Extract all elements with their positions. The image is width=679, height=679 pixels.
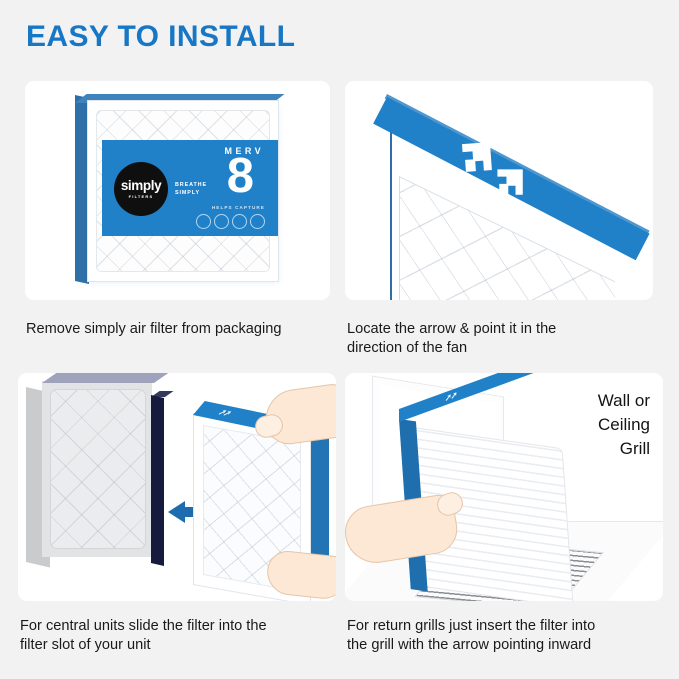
direction-arrow-badge-icon: ➚➚ — [216, 407, 233, 418]
frame-vertical-edge — [390, 128, 392, 300]
step-4-card: ➚➚ Wall or Ceiling Grill — [345, 373, 663, 601]
step-4-caption-line-1: For return grills just insert the filter… — [347, 617, 665, 636]
tagline: BREATHE SIMPLY — [175, 181, 207, 198]
slide-filter-illustration: ➚➚ — [18, 373, 336, 601]
pet-dander-icon — [250, 214, 265, 229]
product-label: simply FILTERS BREATHE SIMPLY MERV 8 HEL… — [102, 140, 278, 236]
step-2-card — [345, 81, 653, 300]
tagline-line-2: SIMPLY — [175, 189, 207, 197]
step-3-caption-line-1: For central units slide the filter into … — [20, 617, 336, 636]
capture-icon-row — [196, 214, 265, 229]
helps-capture-label: HELPS CAPTURE — [212, 206, 265, 211]
easy-to-install-infographic: EASY TO INSTALL simply FILTERS BREATHE — [0, 0, 679, 679]
airflow-arrow-2-icon — [492, 164, 530, 202]
step-1-card: simply FILTERS BREATHE SIMPLY MERV 8 HEL… — [25, 81, 330, 300]
merv-rating: 8 — [227, 152, 254, 201]
tagline-line-1: BREATHE — [175, 181, 207, 189]
note-line-2: Ceiling — [530, 413, 650, 437]
step-2-caption-line-2: direction of the fan — [347, 339, 647, 358]
filter-in-packaging-illustration: simply FILTERS BREATHE SIMPLY MERV 8 HEL… — [25, 81, 330, 300]
return-grill-illustration: ➚➚ Wall or Ceiling Grill — [345, 373, 663, 601]
step-3-caption: For central units slide the filter into … — [20, 617, 336, 656]
dust-icon — [214, 214, 229, 229]
page-title: EASY TO INSTALL — [26, 22, 295, 52]
step-4-caption: For return grills just insert the filter… — [347, 617, 665, 656]
air-filter: ➚➚ — [193, 391, 336, 589]
pollen-icon — [196, 214, 211, 229]
wall-or-ceiling-grill-note: Wall or Ceiling Grill — [530, 389, 650, 461]
mold-icon — [232, 214, 247, 229]
hvac-unit-top — [42, 373, 171, 383]
airflow-arrow-illustration — [345, 81, 653, 300]
box-front-face: simply FILTERS BREATHE SIMPLY MERV 8 HEL… — [87, 100, 279, 282]
step-2-caption: Locate the arrow & point it in the direc… — [347, 320, 647, 359]
hvac-unit-panel — [50, 389, 146, 549]
filter-slot — [151, 395, 164, 566]
note-line-1: Wall or — [530, 389, 650, 413]
step-1-caption: Remove simply air filter from packaging — [26, 320, 336, 339]
step-3-caption-line-2: filter slot of your unit — [20, 636, 336, 655]
step-3-card: ➚➚ — [18, 373, 336, 601]
direction-arrow-badge-icon: ➚➚ — [445, 390, 456, 403]
note-line-3: Grill — [530, 437, 650, 461]
step-4-caption-line-2: the grill with the arrow pointing inward — [347, 636, 665, 655]
brand-logo-subtext: FILTERS — [129, 195, 154, 199]
step-2-caption-line-1: Locate the arrow & point it in the — [347, 320, 647, 339]
brand-logo-text: simply — [121, 179, 161, 193]
brand-logo-icon: simply FILTERS — [114, 162, 168, 216]
